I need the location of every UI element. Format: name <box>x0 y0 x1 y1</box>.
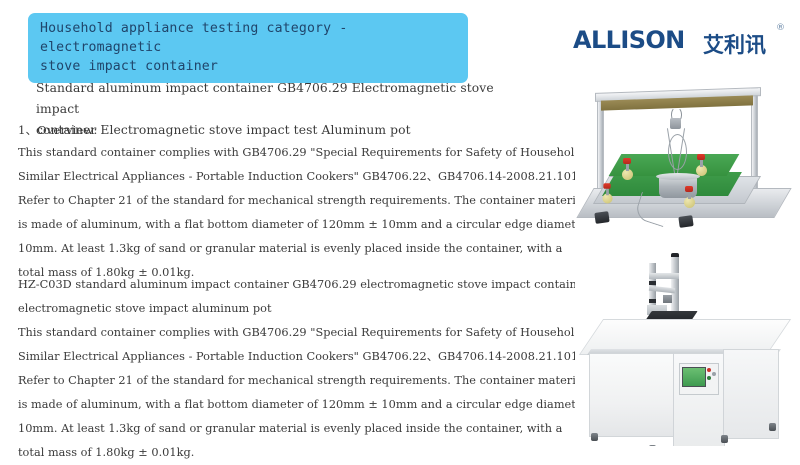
rig-wire-loop <box>668 134 687 170</box>
image-column: ALLISON 艾利讯 ® <box>566 0 800 450</box>
cabinet-panel-seam <box>723 350 724 437</box>
page-title-line-1: Household appliance testing category - e… <box>40 19 458 57</box>
body-line: total mass of 1.80kg ± 0.01kg. <box>18 441 558 465</box>
product-subtitle-line-1: Standard aluminum impact container GB470… <box>36 78 506 120</box>
body-line: is made of aluminum, with a flat bottom … <box>18 213 558 237</box>
cabinet-panel-seam <box>673 353 674 446</box>
body-line: Refer to Chapter 21 of the standard for … <box>18 369 558 393</box>
cabinet-lcd-display <box>682 367 706 387</box>
body-line: This standard container complies with GB… <box>18 321 558 345</box>
column-impact-weight <box>663 295 672 303</box>
product-subtitle-line-2: container Electromagnetic stove impact t… <box>36 120 506 141</box>
rig-foot <box>594 211 609 224</box>
rig-clamp <box>683 190 696 214</box>
rig-foot <box>678 215 693 228</box>
body-line: Refer to Chapter 21 of the standard for … <box>18 189 558 213</box>
body-line: 10mm. At least 1.3kg of sand or granular… <box>18 417 558 441</box>
column-upper-arm <box>649 273 679 279</box>
aluminum-impact-pot-rim <box>656 173 700 180</box>
cabinet-caster <box>591 433 598 441</box>
rig-clamp <box>695 158 708 182</box>
page-title-banner: Household appliance testing category - e… <box>28 13 468 83</box>
clamp-red-cap <box>685 186 693 192</box>
brand-logo: ALLISON 艾利讯 ® <box>573 26 798 60</box>
column-vertical-rod <box>671 257 679 311</box>
product-subtitle: Standard aluminum impact container GB470… <box>36 78 506 141</box>
rig-clamp <box>621 162 634 186</box>
impact-test-cabinet-photo <box>575 253 799 446</box>
cabinet-caster <box>649 445 656 446</box>
body-line: is made of aluminum, with a flat bottom … <box>18 393 558 417</box>
brand-chinese-name: 艾利讯 <box>703 29 766 59</box>
clamp-red-cap <box>603 183 610 189</box>
overview-paragraph-one: This standard container complies with GB… <box>18 141 558 285</box>
clamp-red-cap <box>623 158 631 164</box>
cabinet-stop-button <box>707 368 711 372</box>
cabinet-caster <box>721 435 728 443</box>
clamp-red-cap <box>697 154 705 160</box>
body-line: 10mm. At least 1.3kg of sand or granular… <box>18 237 558 261</box>
rig-shackle <box>670 118 681 129</box>
cabinet-selector-knob <box>712 372 716 376</box>
column-clamp-block <box>649 281 656 285</box>
section-heading-overview: 1、Overview: <box>18 122 97 138</box>
body-line: This standard container complies with GB… <box>18 141 558 165</box>
body-line: Similar Electrical Appliances - Portable… <box>18 345 558 369</box>
body-line: HZ-C03D standard aluminum impact contain… <box>18 273 558 297</box>
cabinet-door-left <box>589 353 675 437</box>
impact-test-rig-photo <box>575 80 799 243</box>
body-line: electromagnetic stove impact aluminum po… <box>18 297 558 321</box>
product-description-page: Household appliance testing category - e… <box>0 0 800 450</box>
text-column: Household appliance testing category - e… <box>0 0 566 450</box>
rig-clamp <box>602 187 614 209</box>
cabinet-start-button <box>707 376 711 380</box>
brand-wordmark: ALLISON <box>573 26 685 54</box>
body-line: Similar Electrical Appliances - Portable… <box>18 165 558 189</box>
registered-trademark-icon: ® <box>776 23 785 33</box>
overview-paragraph-two: HZ-C03D standard aluminum impact contain… <box>18 273 558 465</box>
page-title-line-2: stove impact container <box>40 57 458 76</box>
cabinet-caster <box>769 423 776 431</box>
column-clamp-block <box>649 299 656 303</box>
